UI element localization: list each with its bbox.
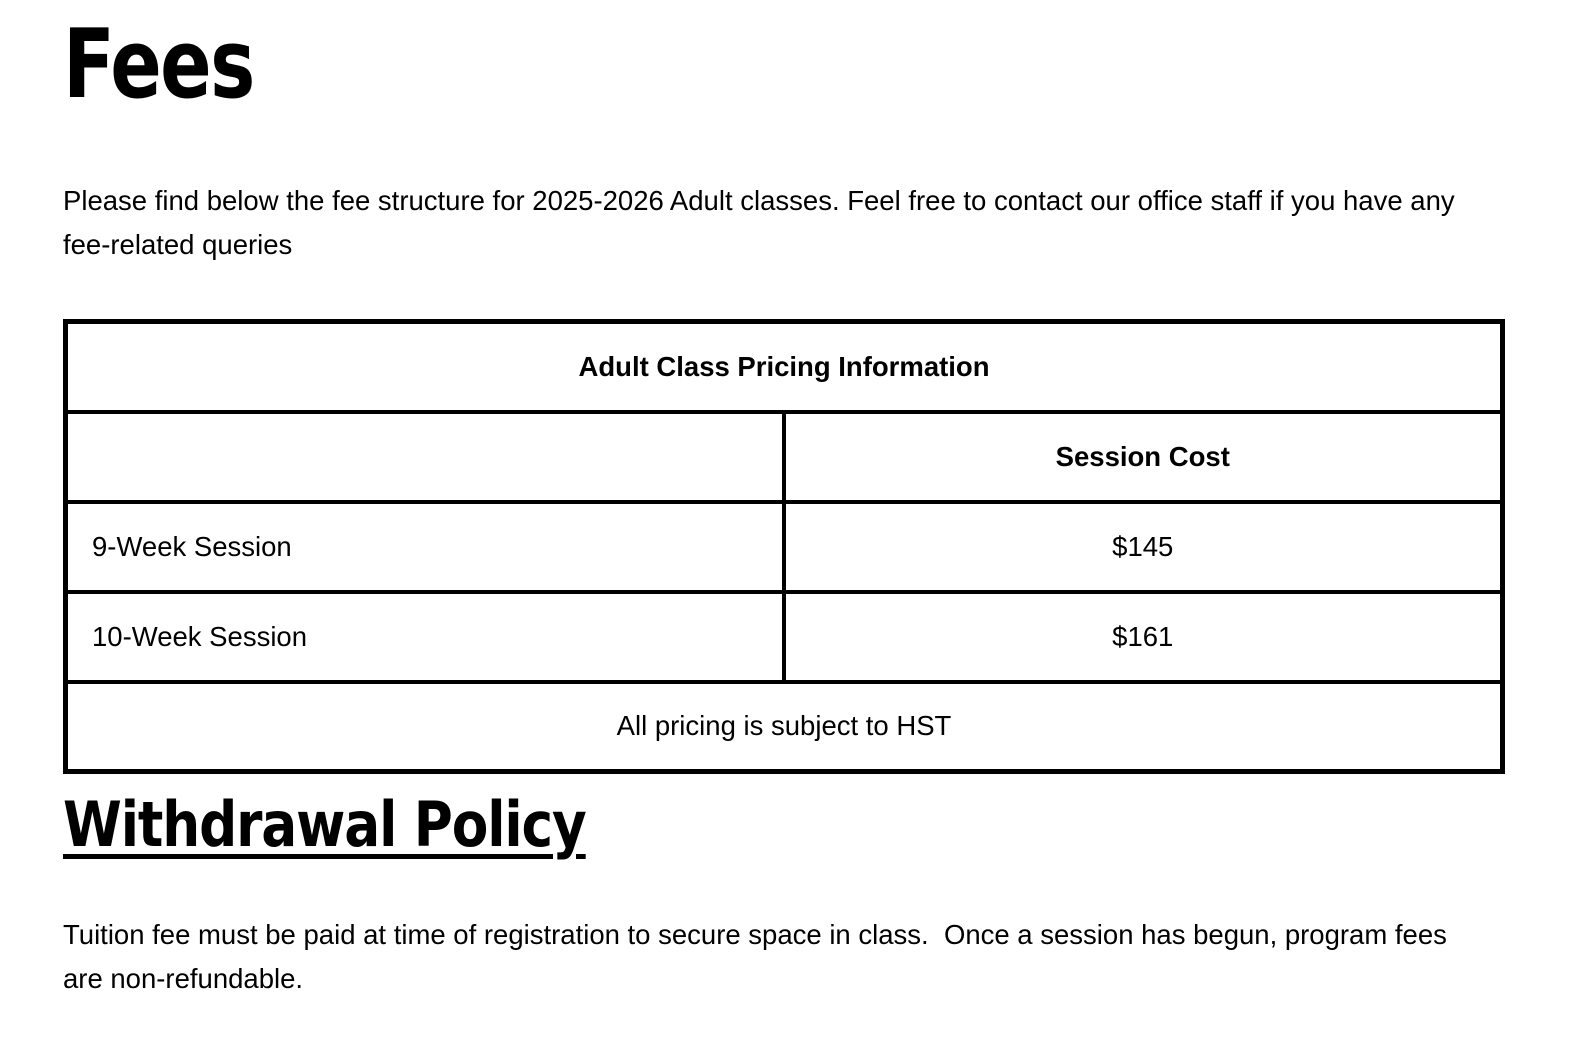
table-row-footer: All pricing is subject to HST	[66, 682, 1503, 772]
page-title: Fees	[63, 0, 1218, 113]
row-cost-10-week-session: $161	[784, 592, 1503, 682]
row-cost-9-week-session: $145	[784, 502, 1503, 592]
row-label-10-week-session: 10-Week Session	[66, 592, 784, 682]
table-row-caption: Adult Class Pricing Information	[66, 322, 1503, 412]
table-caption-cell: Adult Class Pricing Information	[66, 322, 1503, 412]
withdrawal-policy-heading: Withdrawal Policy	[63, 774, 1305, 857]
withdrawal-policy-paragraph: Tuition fee must be paid at time of regi…	[63, 857, 1483, 1001]
table-row: 10-Week Session $161	[66, 592, 1503, 682]
row-label-9-week-session: 9-Week Session	[66, 502, 784, 592]
table-row-header: Session Cost	[66, 412, 1503, 502]
table-header-session-cost: Session Cost	[784, 412, 1503, 502]
table-row: 9-Week Session $145	[66, 502, 1503, 592]
intro-paragraph: Please find below the fee structure for …	[63, 113, 1493, 267]
document-page: Fees Please find below the fee structure…	[0, 0, 1570, 1054]
pricing-table-container: Adult Class Pricing Information Session …	[63, 267, 1507, 774]
table-footer-note: All pricing is subject to HST	[66, 682, 1503, 772]
table-header-blank-cell	[66, 412, 784, 502]
adult-class-pricing-table: Adult Class Pricing Information Session …	[63, 319, 1505, 774]
